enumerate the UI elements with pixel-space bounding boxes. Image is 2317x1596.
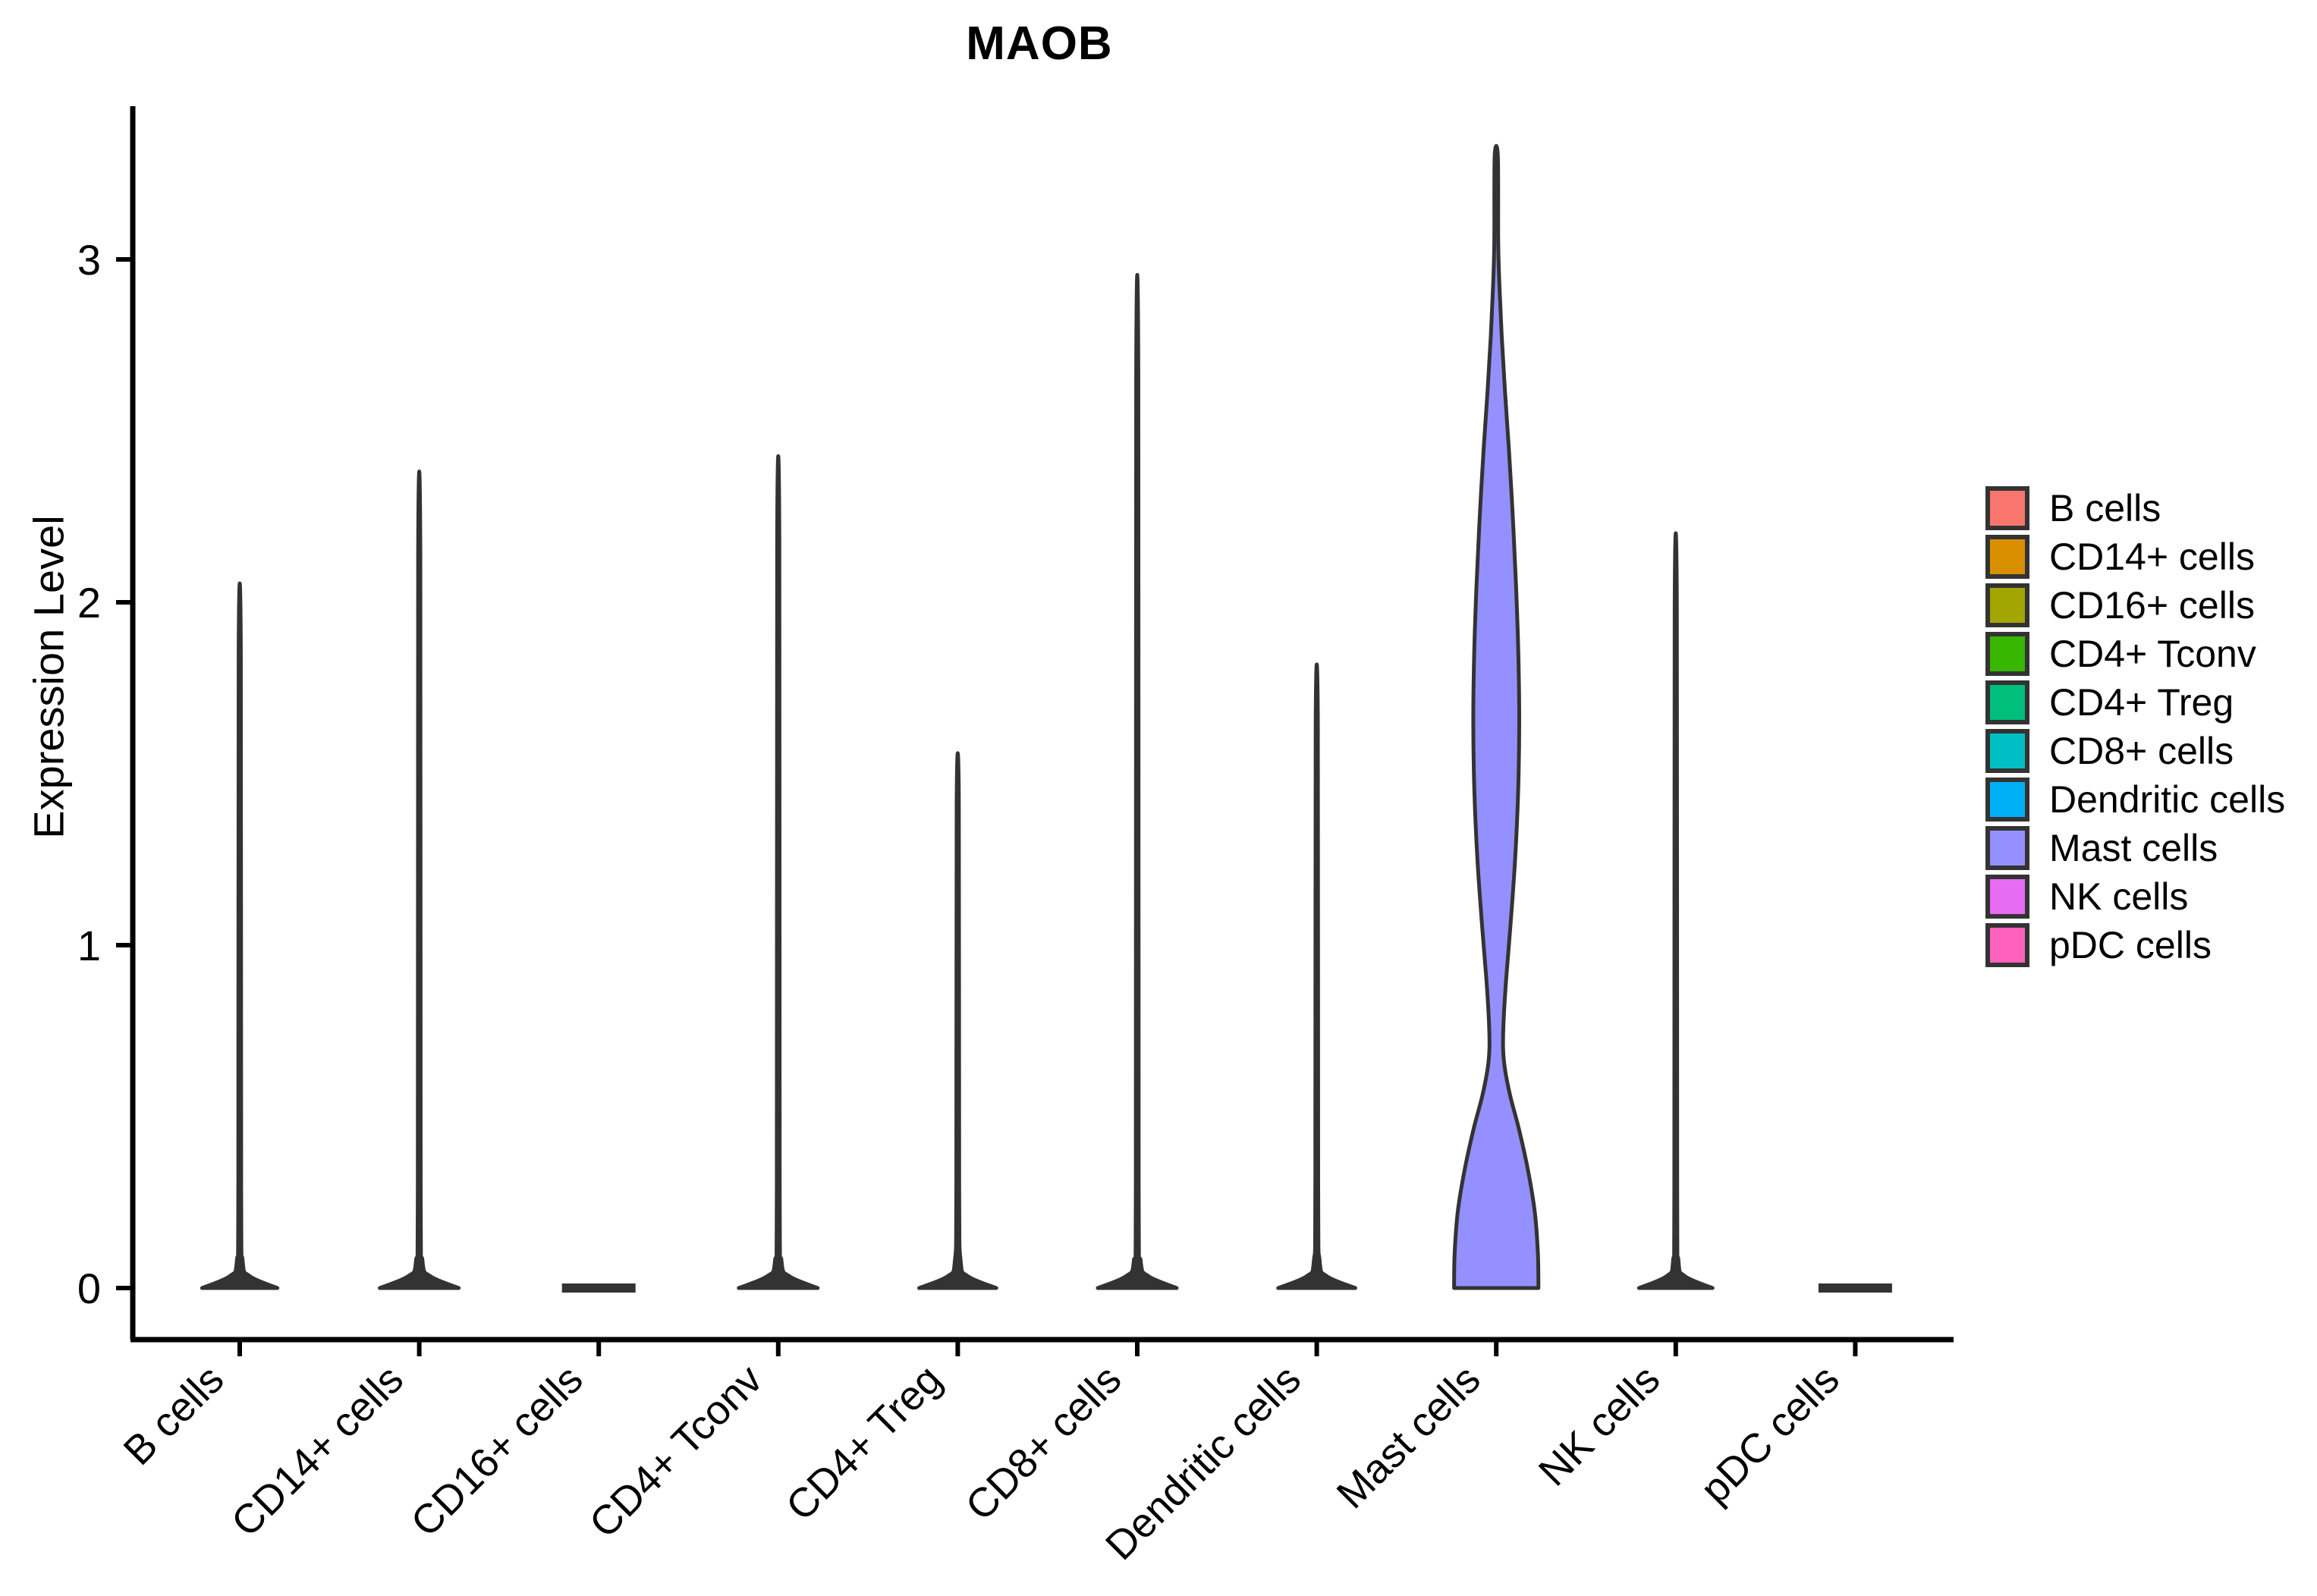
color-swatch-icon	[1985, 583, 2029, 627]
x-tick-label: B cells	[115, 1356, 233, 1474]
color-swatch-icon	[1985, 729, 2029, 773]
x-tick-label: CD4+ Treg	[778, 1356, 951, 1529]
color-swatch-icon	[1985, 875, 2029, 919]
legend-item-label: CD14+ cells	[2049, 538, 2255, 576]
legend-item-cd16-cells[interactable]: CD16+ cells	[1985, 581, 2285, 630]
x-tick-label: CD16+ cells	[402, 1356, 591, 1545]
x-tick-label: pDC cells	[1692, 1356, 1848, 1513]
legend-item-label: CD4+ Tconv	[2049, 635, 2256, 673]
x-tick-label: NK cells	[1530, 1356, 1668, 1494]
legend-item-b-cells[interactable]: B cells	[1985, 484, 2285, 533]
violin-cd4-tconv	[739, 456, 818, 1288]
legend-item-dendritic-cells[interactable]: Dendritic cells	[1985, 775, 2285, 824]
y-tick-labels-group: 0123	[77, 236, 101, 1312]
x-tick-labels-group: B cellsCD14+ cellsCD16+ cellsCD4+ TconvC…	[115, 1356, 1848, 1569]
color-swatch-icon	[1985, 486, 2029, 530]
color-swatch-icon	[1985, 535, 2029, 579]
x-tick-label: Mast cells	[1328, 1356, 1489, 1517]
violins-group	[202, 146, 1892, 1288]
violin-nk-cells	[1639, 533, 1712, 1288]
legend-item-label: CD4+ Treg	[2049, 683, 2234, 721]
legend-item-cd14-cells[interactable]: CD14+ cells	[1985, 533, 2285, 581]
color-swatch-icon	[1985, 778, 2029, 822]
legend-item-nk-cells[interactable]: NK cells	[1985, 872, 2285, 921]
legend-item-label: CD16+ cells	[2049, 586, 2255, 624]
violin-cd14-cells	[380, 472, 459, 1288]
violin-dendritic-cells	[1278, 664, 1356, 1288]
x-tick-label: CD14+ cells	[223, 1356, 412, 1545]
violin-b-cells	[202, 583, 277, 1288]
color-swatch-icon	[1985, 826, 2029, 870]
x-tick-label: CD4+ Tconv	[581, 1356, 772, 1547]
legend-item-cd8-cells[interactable]: CD8+ cells	[1985, 727, 2285, 775]
y-tick-label: 1	[77, 922, 101, 969]
legend: B cellsCD14+ cellsCD16+ cellsCD4+ TconvC…	[1985, 484, 2285, 969]
chart-canvas: 0123 B cellsCD14+ cellsCD16+ cellsCD4+ T…	[0, 0, 2317, 1596]
legend-item-label: CD8+ cells	[2049, 732, 2234, 770]
x-tick-label: CD8+ cells	[957, 1356, 1130, 1529]
y-tick-label: 0	[77, 1265, 101, 1312]
legend-item-label: pDC cells	[2049, 926, 2212, 964]
violin-cd8-cells	[1098, 275, 1177, 1288]
legend-item-pdc-cells[interactable]: pDC cells	[1985, 921, 2285, 969]
color-swatch-icon	[1985, 923, 2029, 967]
legend-item-label: Dendritic cells	[2049, 781, 2285, 818]
violin-cd4-treg	[920, 753, 997, 1288]
y-tick-label: 2	[77, 579, 101, 627]
y-tick-label: 3	[77, 236, 101, 284]
legend-item-label: NK cells	[2049, 878, 2188, 916]
legend-item-cd4-tconv[interactable]: CD4+ Tconv	[1985, 630, 2285, 678]
legend-item-label: Mast cells	[2049, 829, 2218, 867]
violin-plot-figure: MAOB Expression Level 0123 B cellsCD14+ …	[0, 0, 2317, 1596]
legend-item-label: B cells	[2049, 489, 2161, 527]
legend-item-cd4-treg[interactable]: CD4+ Treg	[1985, 678, 2285, 727]
color-swatch-icon	[1985, 632, 2029, 676]
legend-item-mast-cells[interactable]: Mast cells	[1985, 824, 2285, 872]
color-swatch-icon	[1985, 680, 2029, 724]
violin-mast-cells	[1454, 146, 1539, 1288]
